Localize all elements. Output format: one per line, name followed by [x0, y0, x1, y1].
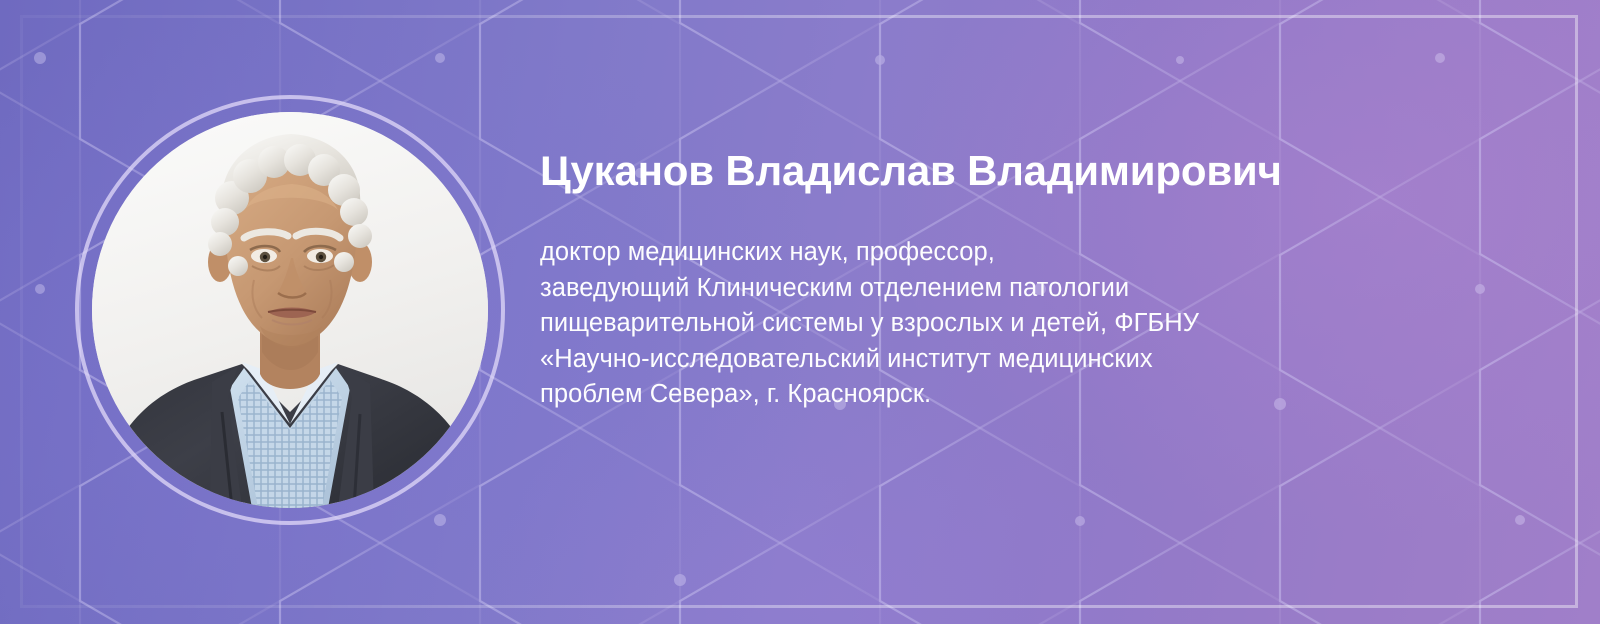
speaker-portrait [75, 95, 505, 525]
credential-line: пищеварительной системы у взрослых и дет… [540, 306, 1440, 342]
credential-line: «Научно-исследовательский институт медиц… [540, 342, 1440, 378]
speaker-info: Цуканов Владислав Владимирович доктор ме… [540, 148, 1440, 413]
portrait-photo-clip [92, 112, 488, 508]
credential-line: проблем Севера», г. Красноярск. [540, 377, 1440, 413]
credential-line: доктор медицинских наук, профессор, [540, 235, 1440, 271]
portrait-photo [92, 112, 488, 508]
speaker-slide: Цуканов Владислав Владимирович доктор ме… [0, 0, 1600, 624]
speaker-credentials: доктор медицинских наук, профессор, заве… [540, 235, 1440, 413]
credential-line: заведующий Клиническим отделением патоло… [540, 271, 1440, 307]
speaker-name: Цуканов Владислав Владимирович [540, 148, 1440, 194]
